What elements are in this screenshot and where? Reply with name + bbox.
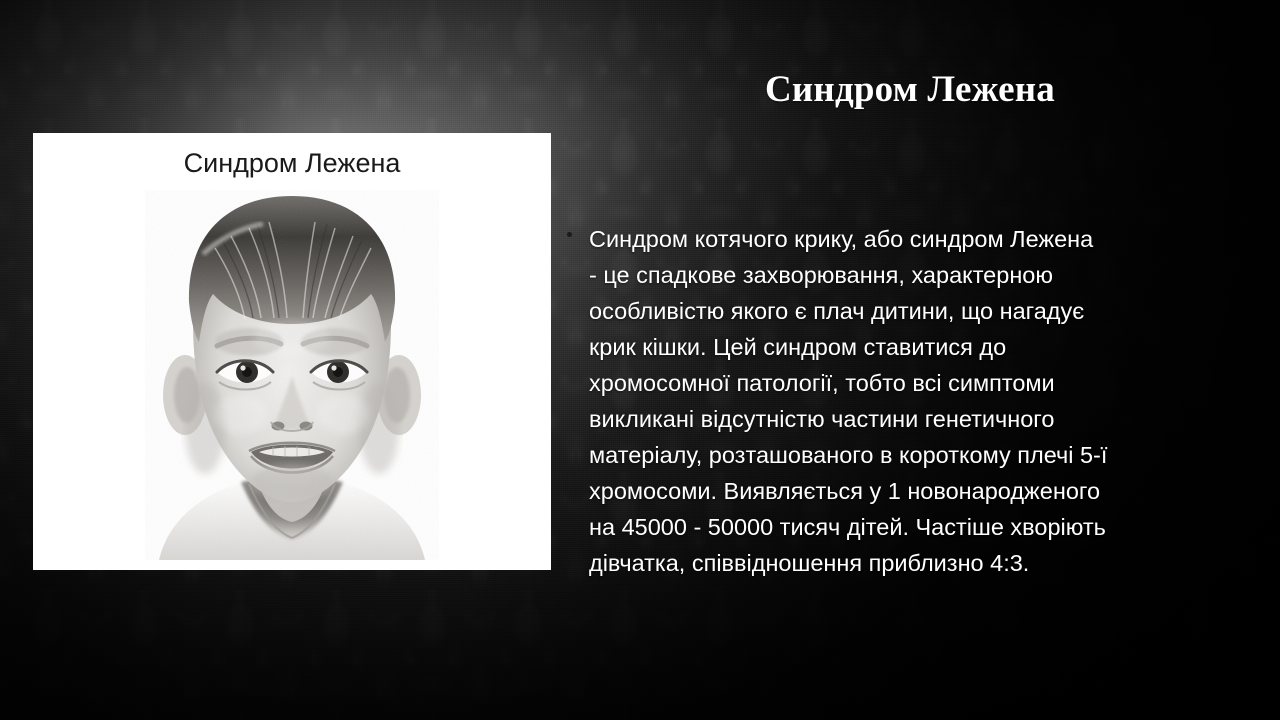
body-line: матеріалу, розташованого в короткому пле… [589,437,1203,473]
image-card: Синдром Лежена [33,133,551,570]
body-line: - це спадкове захворювання, характерною [589,257,1203,293]
body-line: хромосомної патології, тобто всі симптом… [589,365,1203,401]
body-paragraph: Синдром котячого крику, або синдром Леже… [589,221,1203,581]
body-line: крик кішки. Цей синдром ставитися до [589,329,1203,365]
presentation-slide: Синдром Лежена Синдром Лежена [0,0,1280,720]
body-line: дівчатка, співвідношення приблизно 4:3. [589,545,1203,581]
body-line: на 45000 - 50000 тисяч дітей. Частіше хв… [589,509,1203,545]
bullet-point-icon [567,232,572,237]
content-bullet-list: Синдром котячого крику, або синдром Леже… [563,221,1203,581]
body-line: викликані відсутністю частини генетичног… [589,401,1203,437]
body-line: особливістю якого є плач дитини, що нага… [589,293,1203,329]
body-line: Синдром котячого крику, або синдром Леже… [589,221,1203,257]
body-line: хромосоми. Виявляється у 1 новонароджено… [589,473,1203,509]
list-item: Синдром котячого крику, або синдром Леже… [563,221,1203,581]
page-title: Синдром Лежена [570,68,1250,112]
child-portrait-photo [145,190,439,560]
image-card-caption: Синдром Лежена [33,147,551,179]
